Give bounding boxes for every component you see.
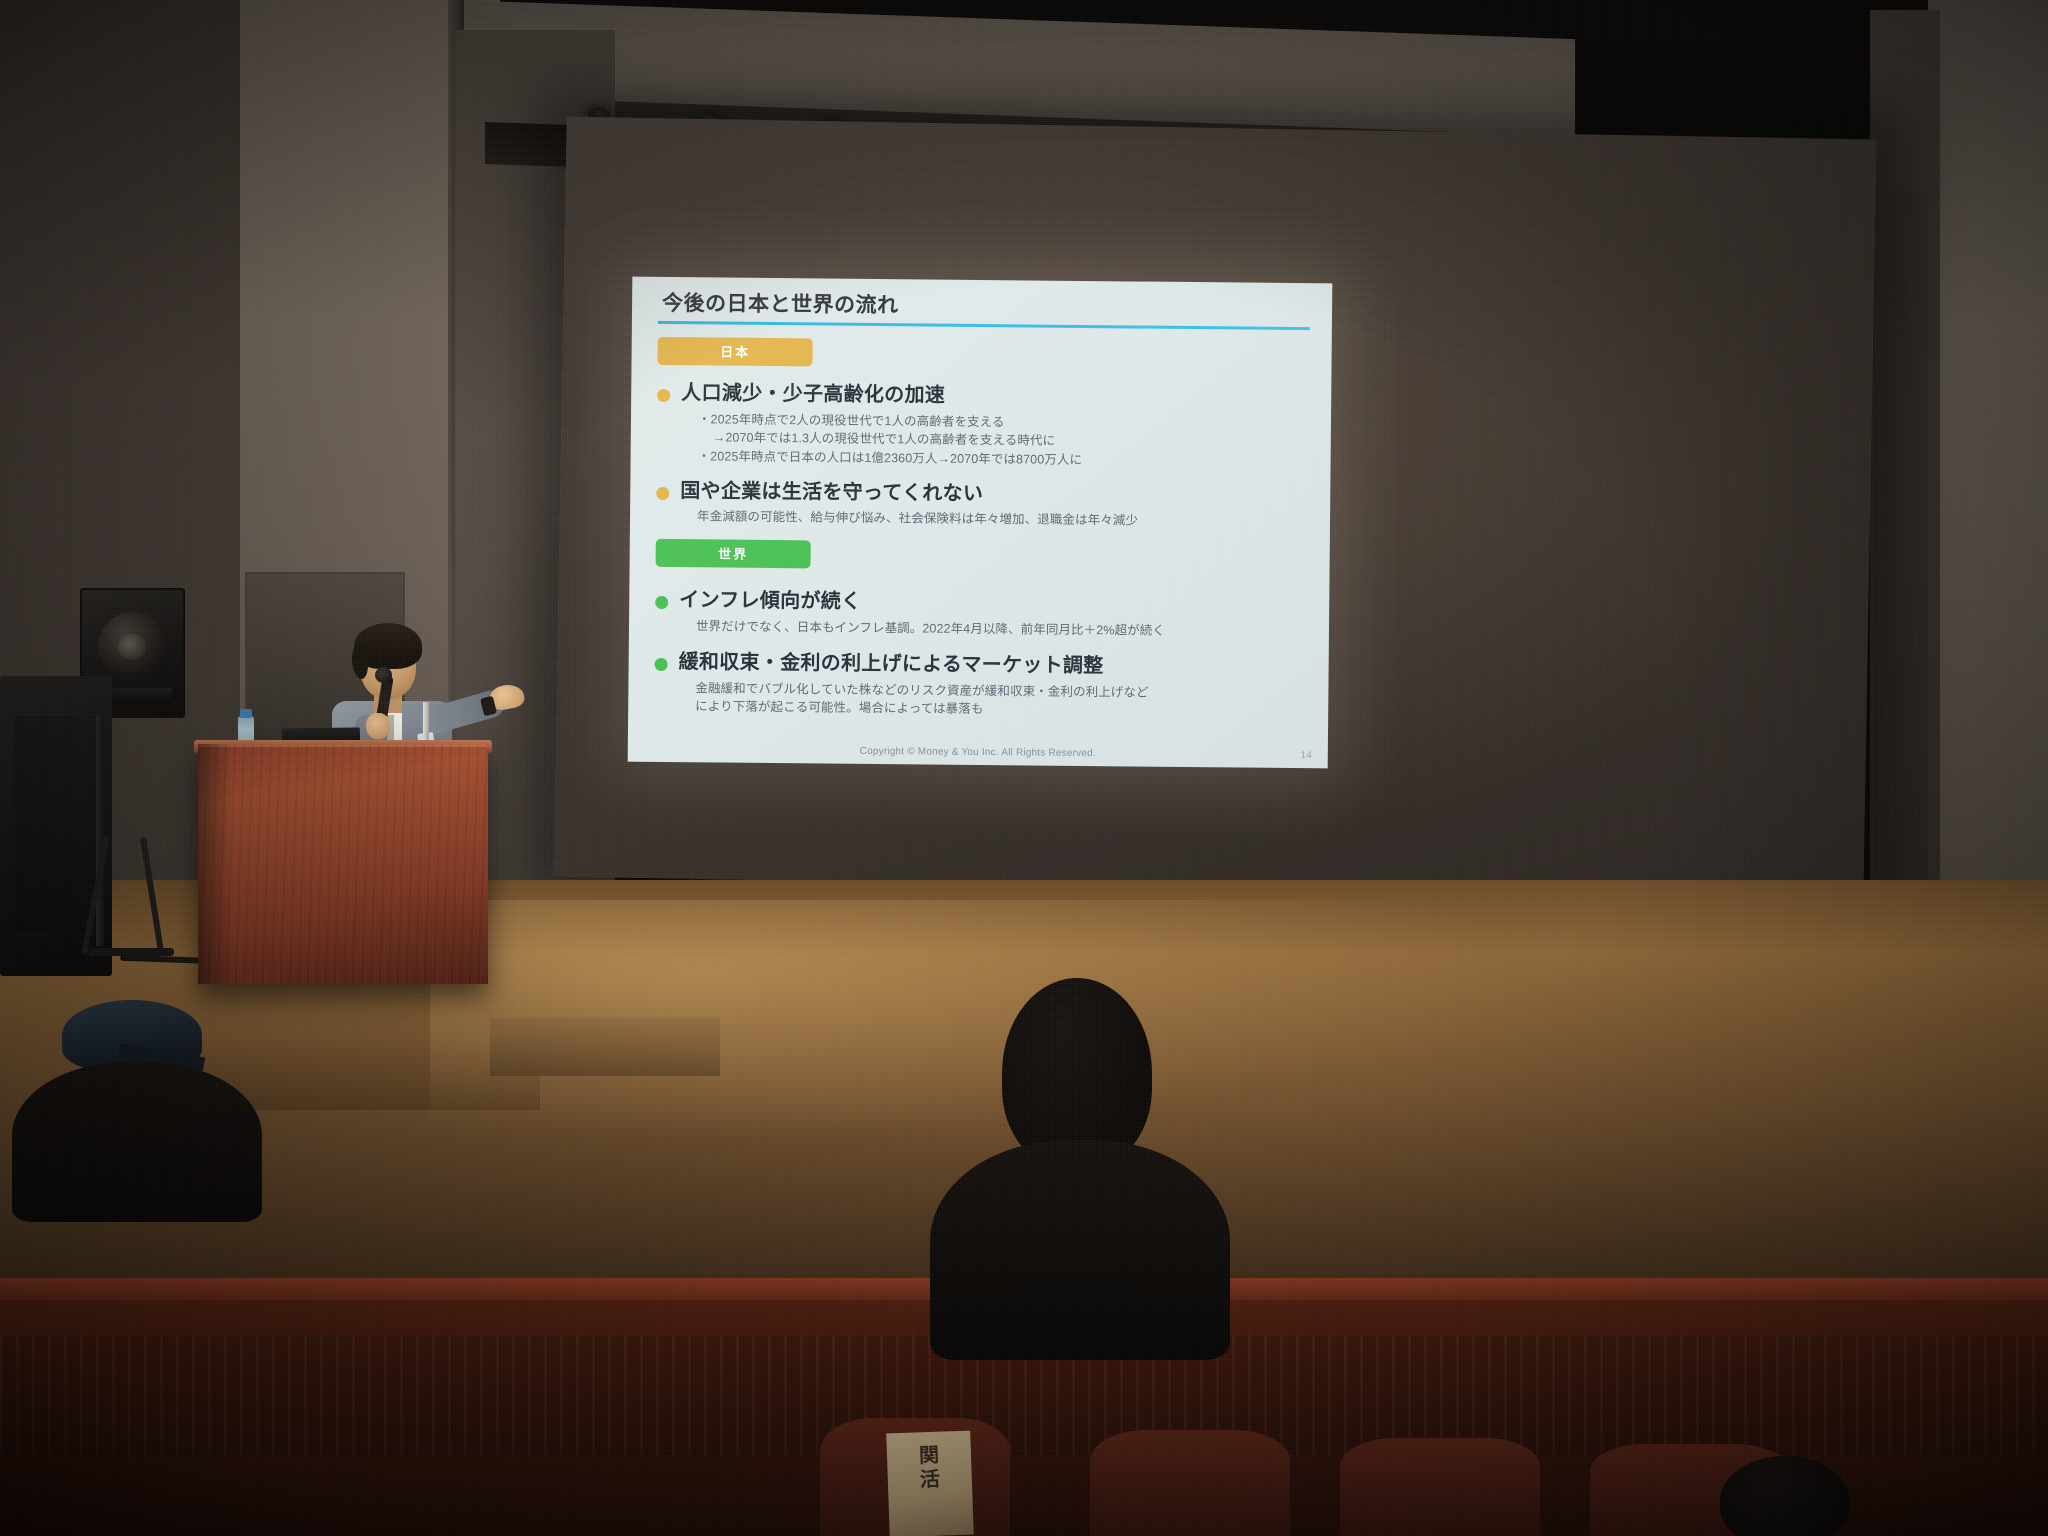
- program-leaflet: 関 活: [886, 1431, 974, 1536]
- bullet-subline: 年金減額の可能性、給与伸び悩み、社会保険料は年々増加、退職金は年々減少: [656, 507, 1308, 531]
- title-accent-rule: [658, 321, 1310, 330]
- bullet-subline: 世界だけでなく、日本もインフレ基調。2022年4月以降、前年同月比＋2%超が続く: [655, 617, 1307, 641]
- presenter-hair-side: [352, 645, 368, 679]
- section-badge-world: 世界: [656, 539, 811, 568]
- bullet-heading: インフレ傾向が続く: [679, 587, 861, 615]
- bullet-dot-icon: [656, 487, 669, 500]
- bullet-inflation: インフレ傾向が続く: [655, 587, 1307, 619]
- auditorium-seat-back: [1090, 1430, 1290, 1536]
- section-japan: 日本 人口減少・少子高齢化の加速 ・2025年時点で2人の現役世代で1人の高齢者…: [656, 337, 1310, 531]
- podium-wood-grain: [198, 744, 488, 984]
- bullet-heading: 緩和収束・金利の利上げによるマーケット調整: [679, 649, 1104, 679]
- section-world: 世界 インフレ傾向が続く 世界だけでなく、日本もインフレ基調。2022年4月以降…: [654, 539, 1308, 722]
- section-badge-japan: 日本: [657, 337, 812, 366]
- wooden-podium: [198, 744, 488, 984]
- bullet-heading: 人口減少・少子高齢化の加速: [681, 380, 945, 409]
- audience-head-right: [1720, 1456, 1850, 1536]
- slide-page-number: 14: [1301, 750, 1312, 761]
- bullet-dot-icon: [655, 596, 668, 609]
- bullet-population-decline: 人口減少・少子高齢化の加速: [657, 380, 1309, 412]
- slide-copyright: Copyright © Money & You Inc. All Rights …: [628, 744, 1328, 762]
- bullet-market-adjustment: 緩和収束・金利の利上げによるマーケット調整: [655, 649, 1307, 681]
- subwoofer-grille: [14, 716, 100, 931]
- bullet-dot-icon: [657, 389, 670, 402]
- audience-shoulders: [930, 1140, 1230, 1360]
- program-leaflet-char: 関: [919, 1446, 940, 1467]
- audience-shoulders: [12, 1062, 262, 1222]
- microphone-capsule-icon: [375, 667, 392, 683]
- speaker-cone-center: [118, 634, 146, 660]
- bullet-dot-icon: [655, 658, 668, 671]
- presenter-hand-holding-mic: [366, 713, 390, 739]
- projected-slide: 今後の日本と世界の流れ 日本 人口減少・少子高齢化の加速 ・2025年時点で2人…: [628, 277, 1333, 769]
- slide-title: 今後の日本と世界の流れ: [658, 291, 1310, 324]
- water-bottle-cap: [240, 709, 252, 718]
- program-leaflet-char: 活: [920, 1470, 941, 1491]
- presentation-room-photo: 今後の日本と世界の流れ 日本 人口減少・少子高齢化の加速 ・2025年時点で2人…: [0, 0, 2048, 1536]
- podium-shading: [198, 744, 232, 984]
- stage-step: [490, 1018, 720, 1076]
- bullet-no-safety-net: 国や企業は生活を守ってくれない: [656, 478, 1308, 510]
- speaker-stand-pole: [96, 716, 104, 946]
- auditorium-seat-back: [1340, 1438, 1540, 1536]
- bullet-heading: 国や企業は生活を守ってくれない: [680, 478, 983, 507]
